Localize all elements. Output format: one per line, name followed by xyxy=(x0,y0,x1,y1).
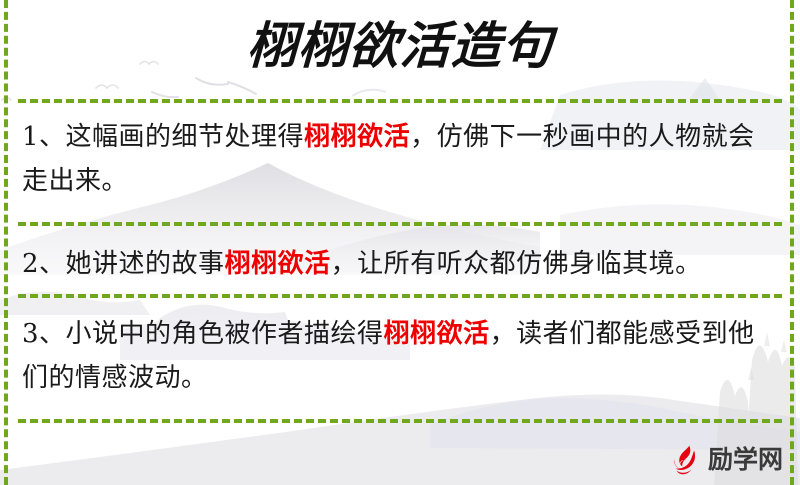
example-sentence-1: 1、这幅画的细节处理得栩栩欲活，仿佛下一秒画中的人物就会走出来。 xyxy=(22,115,770,203)
sentence-1-keyword: 栩栩欲活 xyxy=(304,122,410,152)
sentence-2-prefix: 她讲述的故事 xyxy=(66,249,225,279)
divider-after-sentence-3 xyxy=(18,419,782,423)
divider-after-sentence-1 xyxy=(18,222,782,226)
sentence-1-number: 1、 xyxy=(22,122,66,152)
flame-swirl-icon xyxy=(668,443,702,477)
sentence-1-prefix: 这幅画的细节处理得 xyxy=(66,122,305,152)
divider-below-title xyxy=(18,99,782,103)
divider-after-sentence-2 xyxy=(18,294,782,298)
sentence-2-keyword: 栩栩欲活 xyxy=(225,249,331,279)
sentence-2-number: 2、 xyxy=(22,249,66,279)
slide-page: 栩栩欲活造句 1、这幅画的细节处理得栩栩欲活，仿佛下一秒画中的人物就会走出来。 … xyxy=(0,0,800,485)
site-watermark: 励学网 xyxy=(668,443,783,477)
brand-name: 励学网 xyxy=(708,445,783,475)
sentence-2-suffix: ，让所有听众都仿佛身临其境。 xyxy=(331,249,702,279)
example-sentence-2: 2、她讲述的故事栩栩欲活，让所有听众都仿佛身临其境。 xyxy=(22,242,770,286)
sentence-3-number: 3、 xyxy=(22,319,66,349)
example-sentence-3: 3、小说中的角色被作者描绘得栩栩欲活，读者们都能感受到他们的情感波动。 xyxy=(22,312,770,400)
page-title: 栩栩欲活造句 xyxy=(0,10,800,82)
sentence-3-keyword: 栩栩欲活 xyxy=(384,319,490,349)
sentence-3-prefix: 小说中的角色被作者描绘得 xyxy=(66,319,384,349)
